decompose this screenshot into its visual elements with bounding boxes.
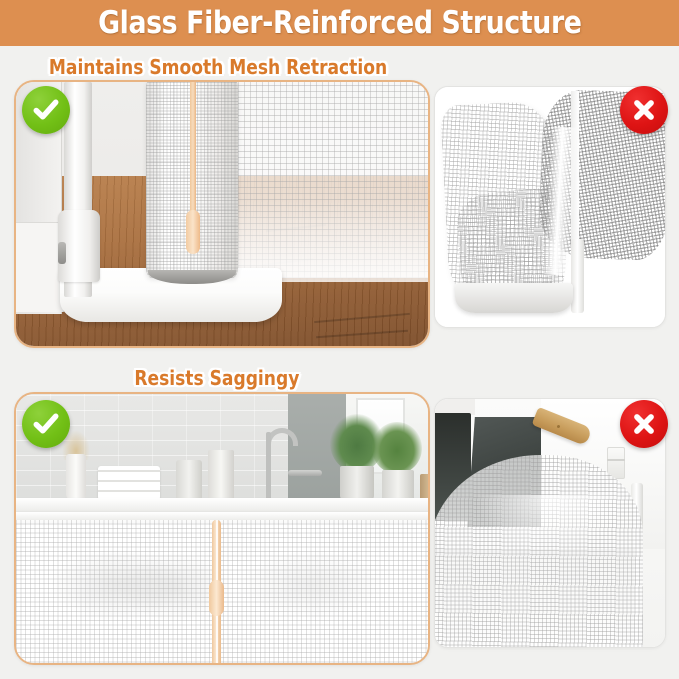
panel-sagging-good (14, 392, 430, 665)
zipper-pull-icon (209, 580, 224, 616)
panel-retraction-good (14, 80, 430, 348)
page-title: Glass Fiber-Reinforced Structure (98, 5, 581, 41)
check-icon (31, 95, 61, 125)
check-icon (31, 409, 61, 439)
roller-bottom-cap (455, 283, 573, 313)
plant-right (372, 422, 422, 474)
bad-badge-retraction (620, 86, 668, 134)
vase (66, 454, 86, 500)
guide-rail (571, 239, 584, 313)
utensil-holder (208, 450, 234, 500)
plant-pot-right (382, 470, 414, 500)
mesh-seethrough-shape (242, 552, 382, 618)
zipper-pull-icon (186, 210, 200, 254)
left-wall-trim (16, 222, 64, 312)
header-banner: Glass Fiber-Reinforced Structure (0, 0, 679, 46)
folded-towels (98, 466, 160, 500)
good-badge-sagging (22, 400, 70, 448)
plant-pot-left (340, 466, 374, 500)
mounting-screw (58, 242, 66, 264)
bad-badge-sagging (620, 400, 668, 448)
spice-jar-1 (420, 474, 430, 500)
faucet-handle (288, 470, 322, 476)
crock (176, 460, 202, 500)
good-badge-retraction (22, 86, 70, 134)
mesh-sag-dip (475, 495, 625, 555)
cross-icon (629, 409, 659, 439)
wall-clip-line (607, 459, 625, 461)
section-subtitle-retraction: Maintains Smooth Mesh Retraction (49, 55, 387, 79)
mesh-shading (435, 549, 635, 648)
section-subtitle-sagging: Resists Saggingy (134, 366, 299, 390)
cross-icon (629, 95, 659, 125)
faucet-body (266, 432, 271, 500)
